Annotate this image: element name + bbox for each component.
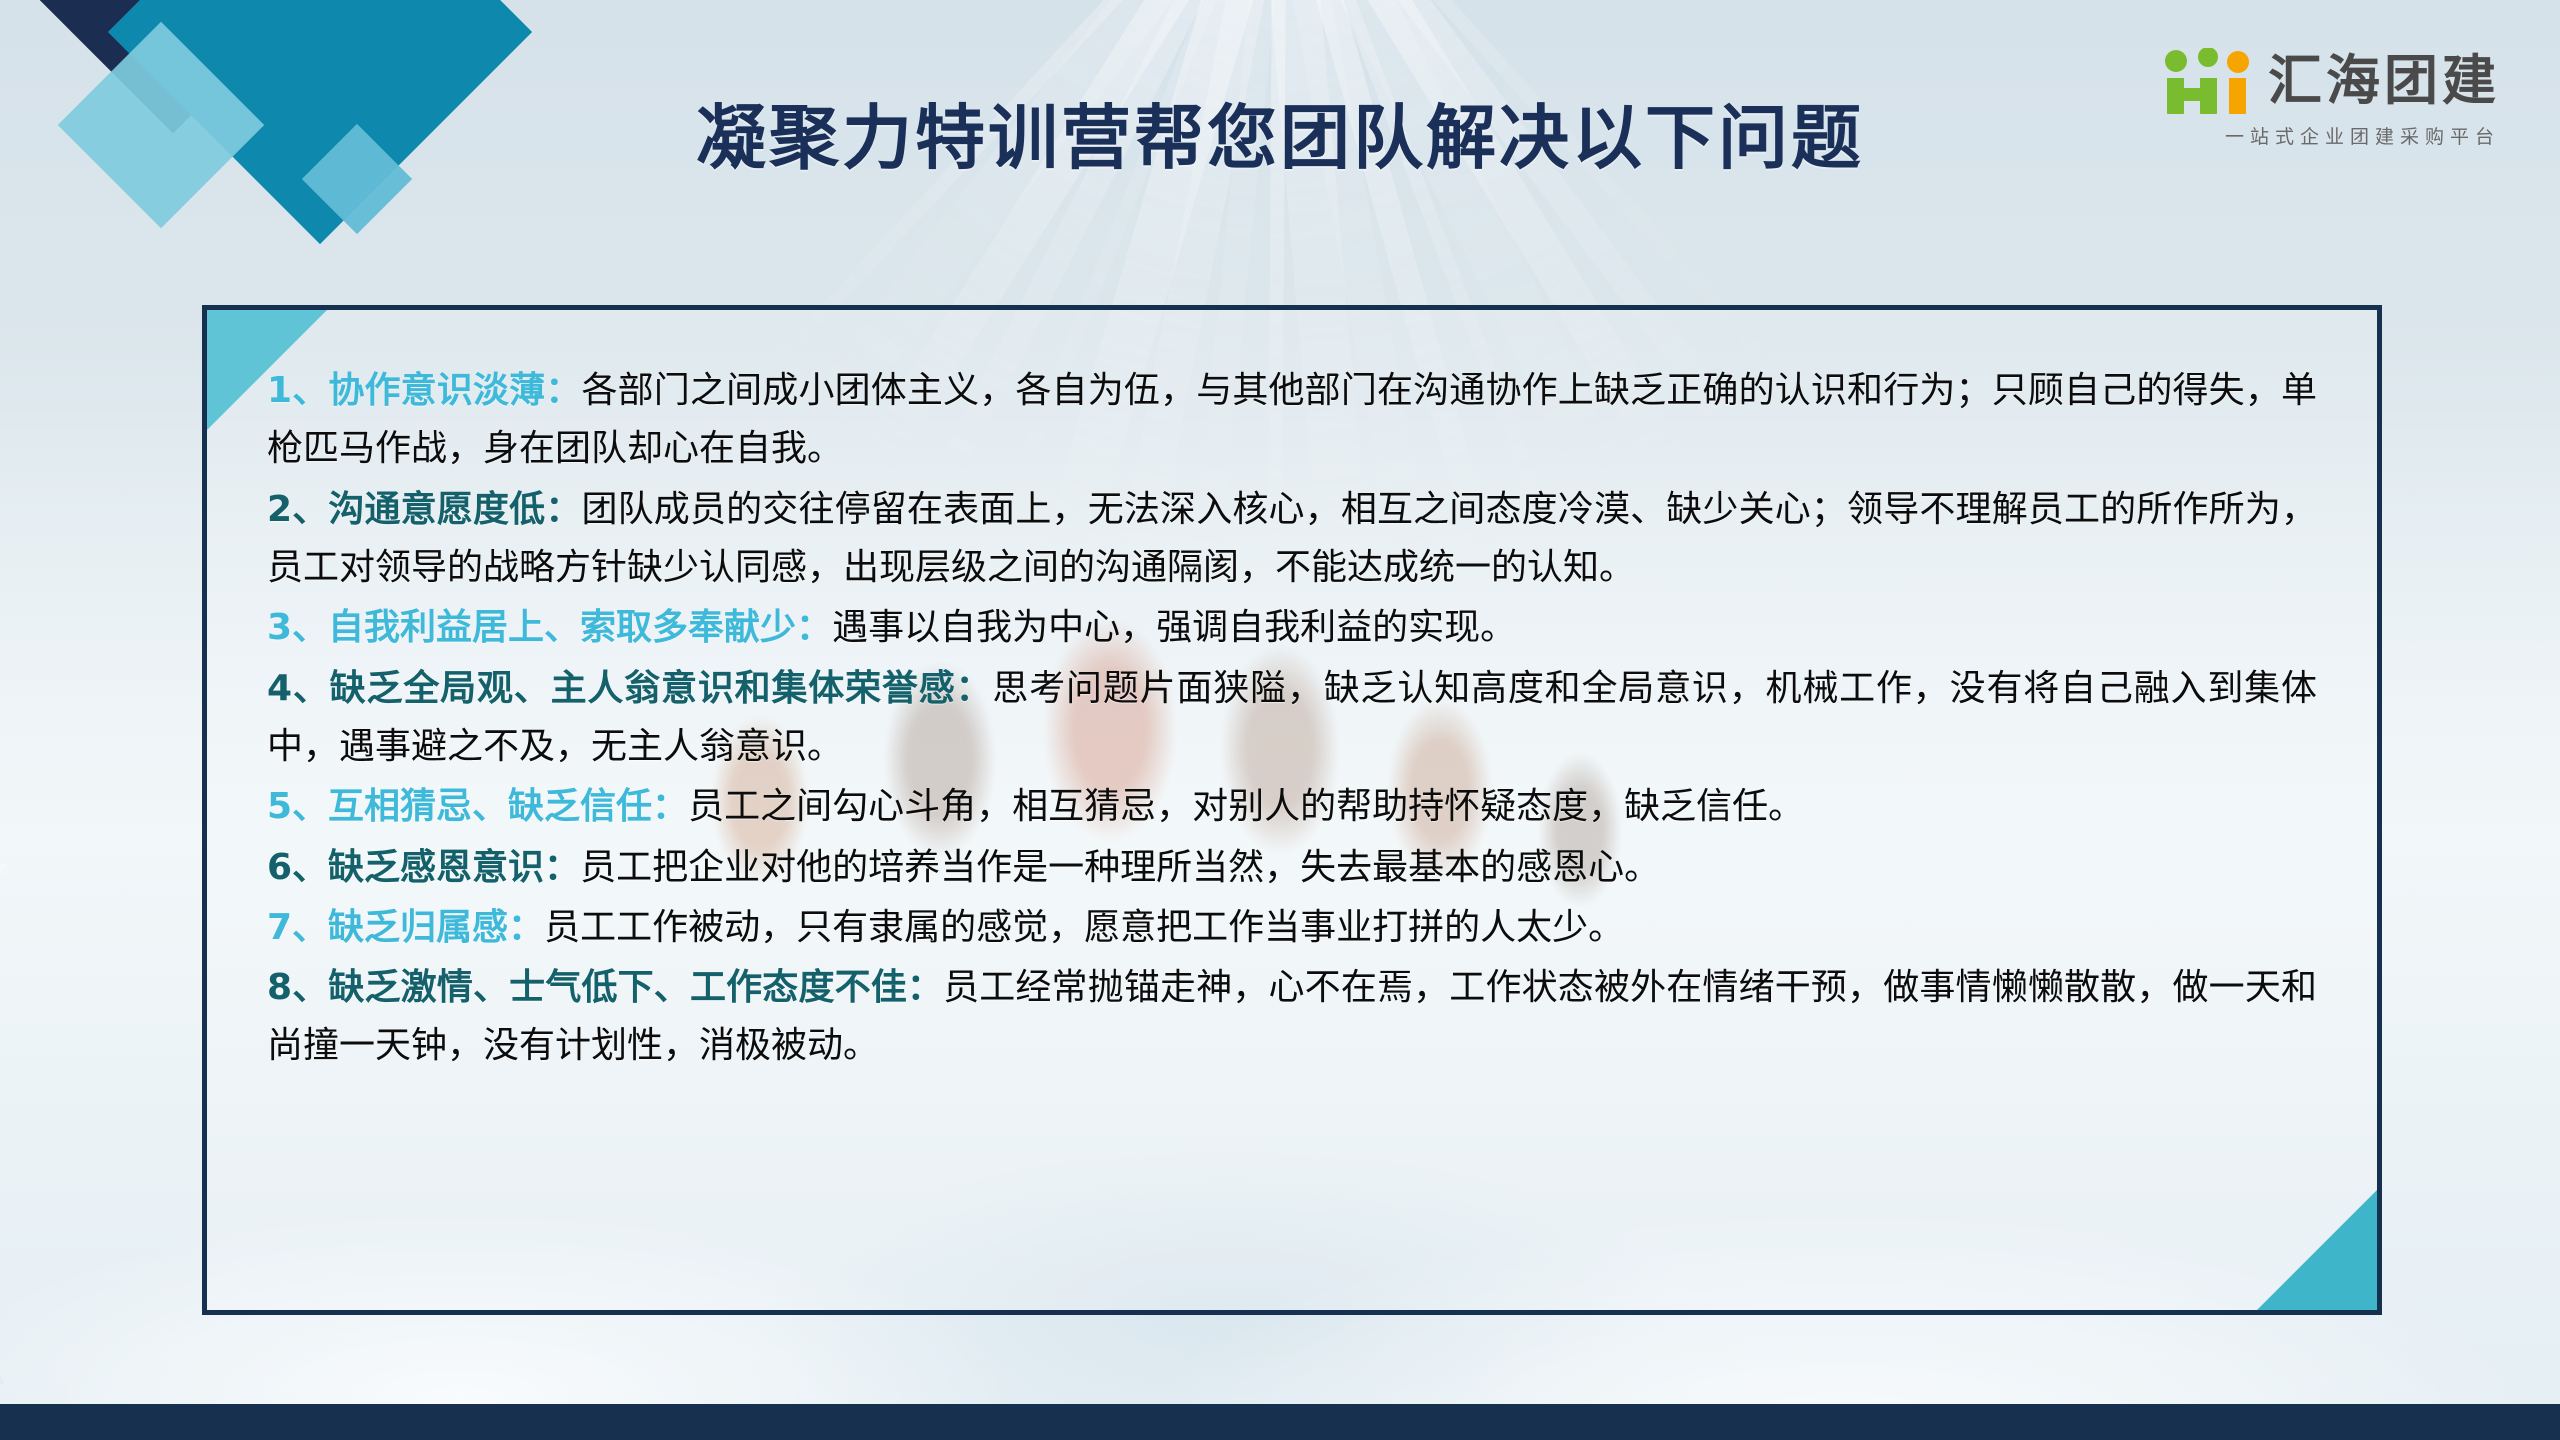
brand-tagline: 一站式企业团建采购平台	[2225, 122, 2500, 149]
problem-list-card: 1、协作意识淡薄：各部门之间成小团体主义，各自为伍，与其他部门在沟通协作上缺乏正…	[202, 305, 2382, 1315]
problem-item-lead: 5、互相猜忌、缺乏信任：	[267, 786, 688, 827]
problem-item-lead: 2、沟通意愿度低：	[267, 489, 581, 530]
problem-item-body: 员工把企业对他的培养当作是一种理所当然，失去最基本的感恩心。	[580, 847, 1660, 888]
problem-item-body: 员工工作被动，只有隶属的感觉，愿意把工作当事业打拼的人太少。	[544, 907, 1624, 948]
problem-list: 1、协作意识淡薄：各部门之间成小团体主义，各自为伍，与其他部门在沟通协作上缺乏正…	[207, 310, 2377, 1076]
problem-item-body: 员工之间勾心斗角，相互猜忌，对别人的帮助持怀疑态度，缺乏信任。	[688, 786, 1804, 827]
problem-item: 8、缺乏激情、士气低下、工作态度不佳：员工经常抛锚走神，心不在焉，工作状态被外在…	[267, 959, 2317, 1076]
problem-item: 1、协作意识淡薄：各部门之间成小团体主义，各自为伍，与其他部门在沟通协作上缺乏正…	[267, 362, 2317, 479]
problem-item: 5、互相猜忌、缺乏信任：员工之间勾心斗角，相互猜忌，对别人的帮助持怀疑态度，缺乏…	[267, 778, 2317, 836]
hi-people-logo-icon	[2160, 48, 2252, 114]
problem-item: 4、缺乏全局观、主人翁意识和集体荣誉感：思考问题片面狭隘，缺乏认知高度和全局意识…	[267, 660, 2317, 777]
problem-item-lead: 8、缺乏激情、士气低下、工作态度不佳：	[267, 967, 943, 1008]
bottom-bar	[0, 1404, 2560, 1440]
problem-item-lead: 6、缺乏感恩意识：	[267, 847, 580, 888]
problem-item: 7、缺乏归属感：员工工作被动，只有隶属的感觉，愿意把工作当事业打拼的人太少。	[267, 899, 2317, 957]
problem-item-lead: 7、缺乏归属感：	[267, 907, 544, 948]
problem-item: 2、沟通意愿度低：团队成员的交往停留在表面上，无法深入核心，相互之间态度冷漠、缺…	[267, 481, 2317, 598]
card-corner-bottom-right	[2257, 1190, 2377, 1310]
problem-item-body: 遇事以自我为中心，强调自我利益的实现。	[832, 607, 1516, 648]
slide-canvas: 凝聚力特训营帮您团队解决以下问题 汇海团建 一站式企业团建采购平台 1、协作意识…	[0, 0, 2560, 1440]
problem-item-lead: 4、缺乏全局观、主人翁意识和集体荣誉感：	[267, 668, 992, 709]
brand-logo: 汇海团建 一站式企业团建采购平台	[2160, 48, 2500, 149]
problem-item: 6、缺乏感恩意识：员工把企业对他的培养当作是一种理所当然，失去最基本的感恩心。	[267, 839, 2317, 897]
problem-item: 3、自我利益居上、索取多奉献少：遇事以自我为中心，强调自我利益的实现。	[267, 599, 2317, 657]
problem-item-lead: 3、自我利益居上、索取多奉献少：	[267, 607, 832, 648]
problem-item-lead: 1、协作意识淡薄：	[267, 370, 581, 411]
brand-name: 汇海团建	[2268, 54, 2500, 108]
